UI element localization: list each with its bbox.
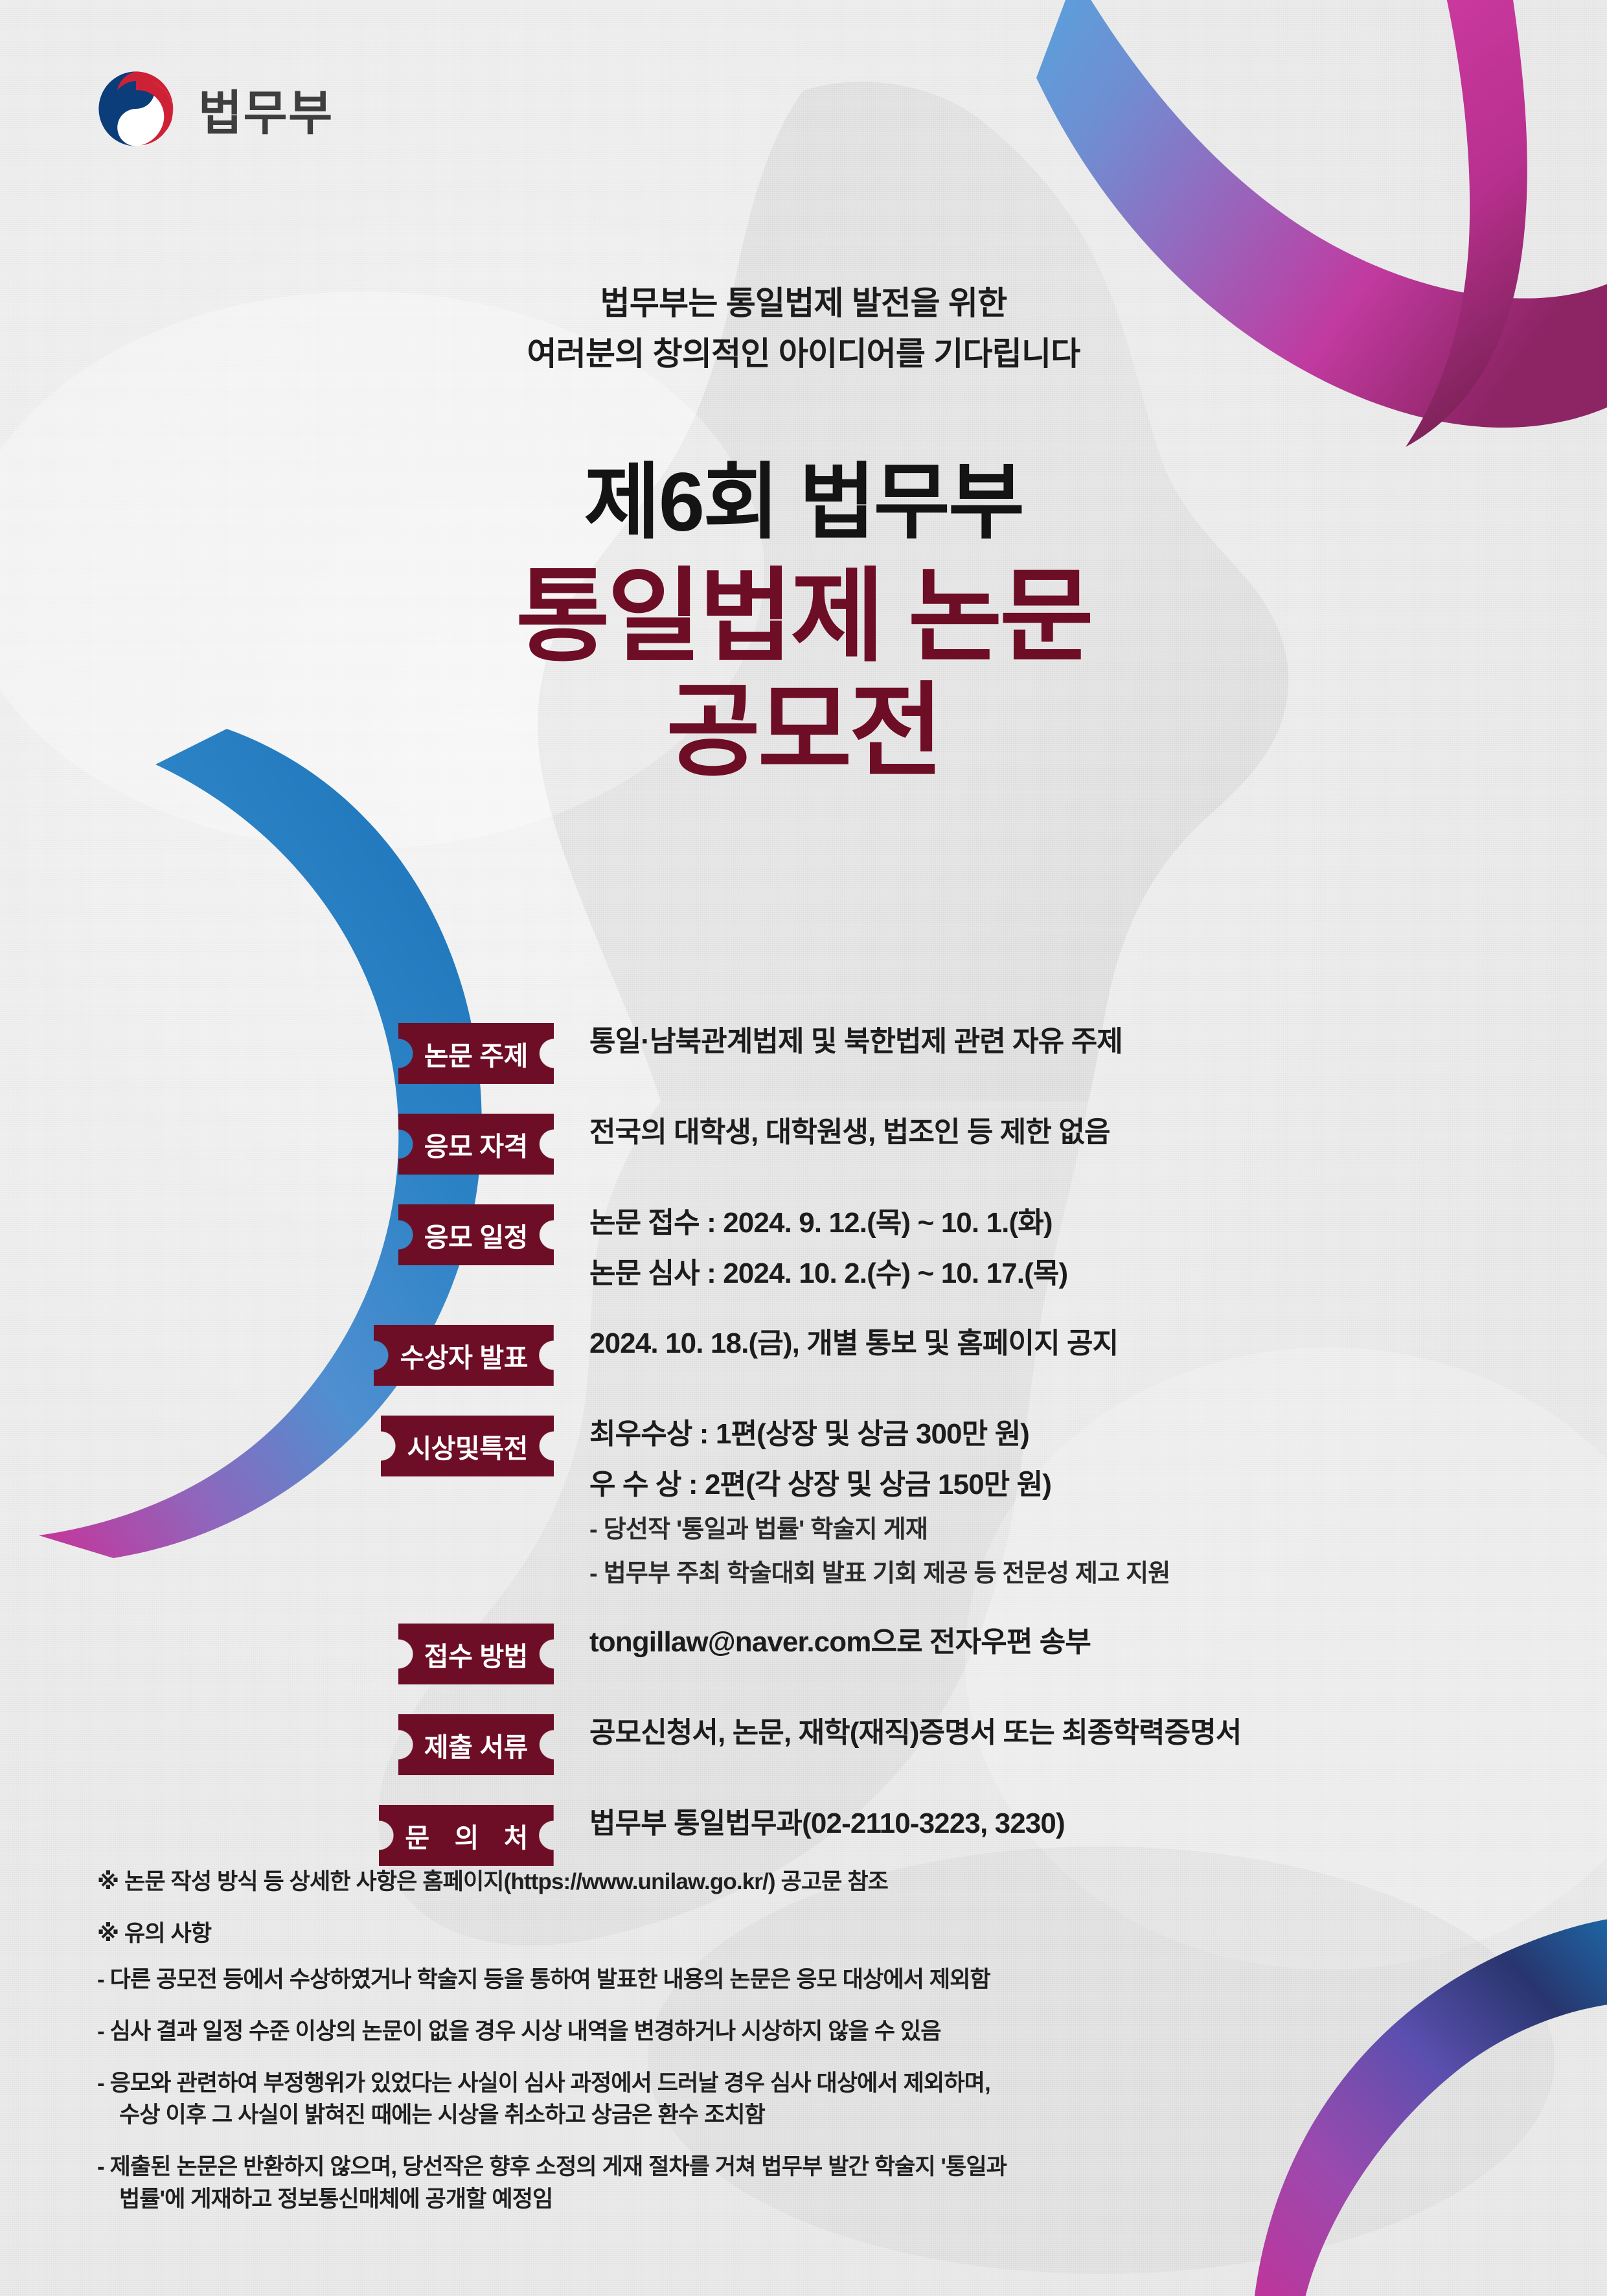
poster-canvas: 법무부 법무부는 통일법제 발전을 위한 여러분의 창의적인 아이디어를 기다립…	[0, 0, 1607, 2296]
row-label-badge: 문 의 처	[379, 1805, 554, 1866]
footnotes: ※ 논문 작성 방식 등 상세한 사항은 홈페이지(https://www.un…	[97, 1866, 1509, 2235]
korea-government-taegeuk-icon	[97, 70, 175, 148]
row-label-cell: 제출 서류	[0, 1712, 554, 1775]
table-row: 수상자 발표2024. 10. 18.(금), 개별 통보 및 홈페이지 공지	[0, 1322, 1607, 1386]
row-value-line: 최우수상 : 1편(상장 및 상금 300만 원)	[589, 1413, 1607, 1456]
row-value-cell: 논문 접수 : 2024. 9. 12.(목) ~ 10. 1.(화)논문 심사…	[554, 1202, 1607, 1295]
table-row: 시상및특전최우수상 : 1편(상장 및 상금 300만 원)우 수 상 : 2편…	[0, 1413, 1607, 1594]
footnote-item: - 심사 결과 일정 수준 이상의 논문이 없을 경우 시상 내역을 변경하거나…	[97, 2015, 1509, 2048]
row-label-badge: 제출 서류	[398, 1714, 554, 1775]
footnote-item: ※ 논문 작성 방식 등 상세한 사항은 홈페이지(https://www.un…	[97, 1866, 1509, 1898]
table-row: 논문 주제통일·남북관계법제 및 북한법제 관련 자유 주제	[0, 1020, 1607, 1084]
row-value-cell: 통일·남북관계법제 및 북한법제 관련 자유 주제	[554, 1020, 1607, 1063]
row-label-cell: 응모 일정	[0, 1202, 554, 1265]
row-value-cell: 전국의 대학생, 대학원생, 법조인 등 제한 없음	[554, 1111, 1607, 1154]
row-value-line: 전국의 대학생, 대학원생, 법조인 등 제한 없음	[589, 1111, 1607, 1154]
tagline-line-2: 여러분의 창의적인 아이디어를 기다립니다	[0, 329, 1607, 380]
tagline: 법무부는 통일법제 발전을 위한 여러분의 창의적인 아이디어를 기다립니다	[0, 279, 1607, 379]
title-line-3: 공모전	[0, 672, 1607, 791]
table-row: 접수 방법tongillaw@naver.com으로 전자우편 송부	[0, 1621, 1607, 1684]
details-table: 논문 주제통일·남북관계법제 및 북한법제 관련 자유 주제응모 자격전국의 대…	[0, 1020, 1607, 1893]
footnote-text: - 심사 결과 일정 수준 이상의 논문이 없을 경우 시상 내역을 변경하거나…	[97, 2019, 941, 2044]
row-value-line: tongillaw@naver.com으로 전자우편 송부	[589, 1621, 1607, 1664]
footnote-item: - 응모와 관련하여 부정행위가 있었다는 사실이 심사 과정에서 드러날 경우…	[97, 2067, 1509, 2131]
ministry-logo: 법무부	[97, 70, 334, 148]
row-value-line: 법무부 통일법무과(02-2110-3223, 3230)	[589, 1802, 1607, 1845]
footnote-item: ※ 유의 사항	[97, 1918, 1509, 1950]
row-label-cell: 시상및특전	[0, 1413, 554, 1476]
table-row: 제출 서류공모신청서, 논문, 재학(재직)증명서 또는 최종학력증명서	[0, 1712, 1607, 1775]
row-value-cell: tongillaw@naver.com으로 전자우편 송부	[554, 1621, 1607, 1664]
row-label-badge: 수상자 발표	[374, 1325, 554, 1386]
row-value-cell: 공모신청서, 논문, 재학(재직)증명서 또는 최종학력증명서	[554, 1712, 1607, 1754]
row-value-line: 우 수 상 : 2편(각 상장 및 상금 150만 원)	[589, 1464, 1607, 1506]
row-label-cell: 수상자 발표	[0, 1322, 554, 1386]
row-value-line: 논문 심사 : 2024. 10. 2.(수) ~ 10. 17.(목)	[589, 1252, 1607, 1295]
row-value-subline: - 법무부 주최 학술대회 발표 기회 제공 등 전문성 제고 지원	[589, 1554, 1607, 1594]
row-value-line: 공모신청서, 논문, 재학(재직)증명서 또는 최종학력증명서	[589, 1712, 1607, 1754]
row-label-badge: 논문 주제	[398, 1023, 554, 1084]
footnote-text: ※ 논문 작성 방식 등 상세한 사항은 홈페이지(https://www.un…	[97, 1869, 888, 1894]
tagline-line-1: 법무부는 통일법제 발전을 위한	[0, 279, 1607, 329]
row-value-cell: 법무부 통일법무과(02-2110-3223, 3230)	[554, 1802, 1607, 1845]
footnote-text: - 제출된 논문은 반환하지 않으며, 당선작은 향후 소정의 게재 절차를 거…	[97, 2154, 1007, 2179]
footnote-item: - 다른 공모전 등에서 수상하였거나 학술지 등을 통하여 발표한 내용의 논…	[97, 1964, 1509, 1996]
title-line-2: 통일법제 논문	[0, 558, 1607, 676]
row-label-badge: 시상및특전	[381, 1416, 554, 1476]
page-title: 제6회 법무부 통일법제 논문 공모전	[0, 453, 1607, 792]
row-value-cell: 최우수상 : 1편(상장 및 상금 300만 원)우 수 상 : 2편(각 상장…	[554, 1413, 1607, 1594]
row-value-cell: 2024. 10. 18.(금), 개별 통보 및 홈페이지 공지	[554, 1322, 1607, 1365]
table-row: 응모 자격전국의 대학생, 대학원생, 법조인 등 제한 없음	[0, 1111, 1607, 1175]
row-value-line: 통일·남북관계법제 및 북한법제 관련 자유 주제	[589, 1020, 1607, 1063]
row-label-cell: 문 의 처	[0, 1802, 554, 1866]
row-label-badge: 응모 일정	[398, 1204, 554, 1265]
footnote-text: - 다른 공모전 등에서 수상하였거나 학술지 등을 통하여 발표한 내용의 논…	[97, 1967, 990, 1992]
title-line-1: 제6회 법무부	[0, 453, 1607, 551]
row-label-badge: 응모 자격	[398, 1114, 554, 1175]
row-label-badge: 접수 방법	[398, 1624, 554, 1684]
footnote-item: - 제출된 논문은 반환하지 않으며, 당선작은 향후 소정의 게재 절차를 거…	[97, 2151, 1509, 2215]
footnote-continuation: 수상 이후 그 사실이 밝혀진 때에는 시상을 취소하고 상금은 환수 조치함	[97, 2099, 1509, 2131]
table-row: 응모 일정논문 접수 : 2024. 9. 12.(목) ~ 10. 1.(화)…	[0, 1202, 1607, 1295]
footnote-text: - 응모와 관련하여 부정행위가 있었다는 사실이 심사 과정에서 드러날 경우…	[97, 2071, 990, 2096]
row-label-cell: 논문 주제	[0, 1020, 554, 1084]
table-row: 문 의 처법무부 통일법무과(02-2110-3223, 3230)	[0, 1802, 1607, 1866]
row-value-line: 논문 접수 : 2024. 9. 12.(목) ~ 10. 1.(화)	[589, 1202, 1607, 1245]
ministry-name: 법무부	[198, 75, 334, 144]
footnote-continuation: 법률'에 게재하고 정보통신매체에 공개할 예정임	[97, 2183, 1509, 2216]
row-label-cell: 접수 방법	[0, 1621, 554, 1684]
row-label-cell: 응모 자격	[0, 1111, 554, 1175]
footnote-text: ※ 유의 사항	[97, 1921, 211, 1946]
row-value-subline: - 당선작 '통일과 법률' 학술지 게재	[589, 1510, 1607, 1550]
row-value-line: 2024. 10. 18.(금), 개별 통보 및 홈페이지 공지	[589, 1322, 1607, 1365]
